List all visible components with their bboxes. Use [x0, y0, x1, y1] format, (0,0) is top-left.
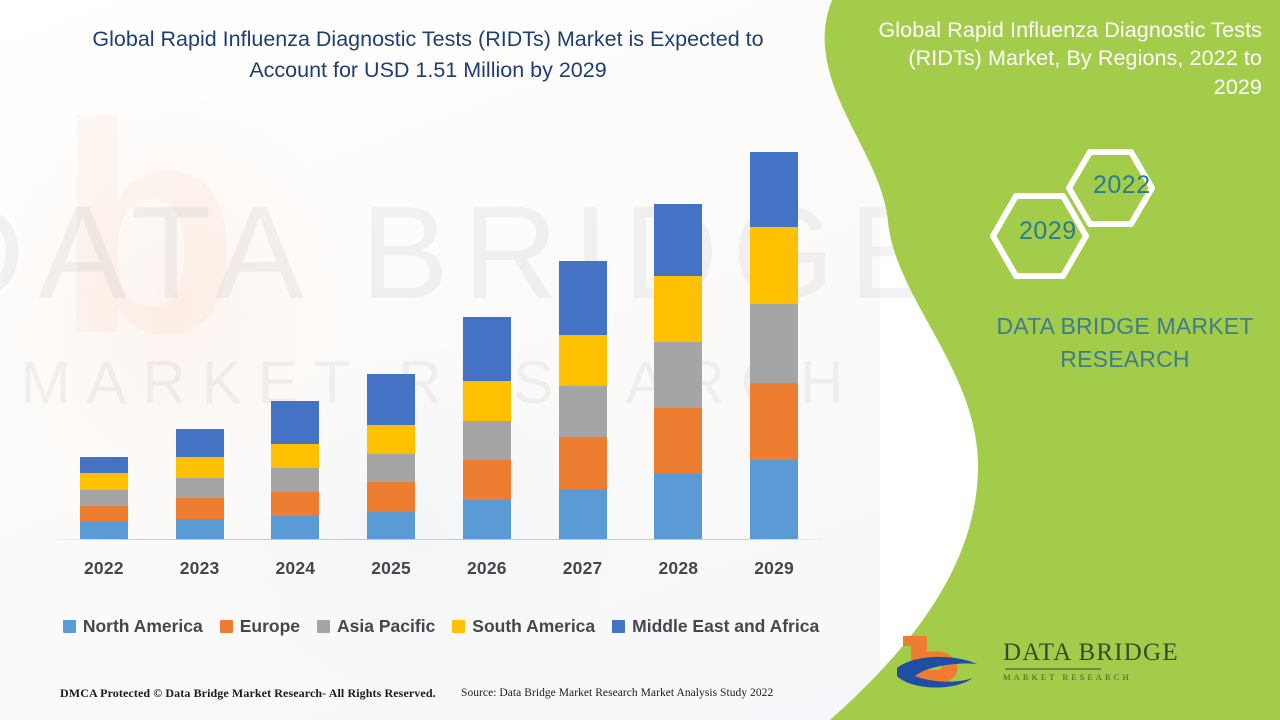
bar-segment: [80, 522, 128, 539]
bar-segment: [271, 468, 319, 492]
bar-segment: [750, 383, 798, 461]
bar-segment: [80, 473, 128, 490]
legend-swatch-icon: [452, 620, 465, 633]
x-axis-line: [56, 539, 822, 540]
legend-label: Europe: [240, 616, 300, 637]
bar-segment: [271, 401, 319, 444]
x-axis-label-2023: 2023: [152, 558, 247, 579]
bar-column-2024: [248, 150, 343, 539]
bar-segment: [463, 381, 511, 421]
stacked-bar: [80, 457, 128, 539]
plot-area: [56, 150, 822, 550]
bar-column-2026: [439, 150, 534, 539]
bar-segment: [80, 506, 128, 523]
bar-segment: [463, 460, 511, 500]
x-axis-label-2022: 2022: [56, 558, 151, 579]
hexagon-label-2029: 2029: [1019, 217, 1077, 246]
legend-swatch-icon: [317, 620, 330, 633]
x-axis-labels: 20222023202420252026202720282029: [56, 558, 822, 579]
logo-main-text: DATA BRIDGE: [1003, 640, 1179, 665]
bar-segment: [559, 437, 607, 488]
bar-segment: [176, 429, 224, 457]
footer-copyright: DMCA Protected © Data Bridge Market Rese…: [60, 686, 436, 701]
legend-label: South America: [472, 616, 595, 637]
bar-segment: [176, 478, 224, 498]
bar-segment: [271, 492, 319, 516]
legend-item[interactable]: North America: [63, 616, 203, 637]
bar-segment: [176, 498, 224, 519]
infographic-canvas: DATA BRIDGE MARKET RESEARCH b Global Rap…: [0, 0, 1280, 720]
legend-label: North America: [83, 616, 203, 637]
bar-segment: [654, 342, 702, 408]
legend-item[interactable]: South America: [452, 616, 595, 637]
bar-segment: [463, 317, 511, 381]
bar-segment: [463, 421, 511, 461]
x-axis-label-2024: 2024: [248, 558, 343, 579]
panel-brand-line-1: DATA BRIDGE MARKET: [996, 313, 1253, 339]
bar-segment: [271, 516, 319, 539]
stacked-bar: [367, 374, 415, 539]
bar-segment: [654, 474, 702, 539]
bar-column-2027: [535, 150, 630, 539]
bar-group: [56, 150, 822, 539]
bar-segment: [80, 457, 128, 473]
bar-segment: [559, 386, 607, 437]
legend-swatch-icon: [63, 620, 76, 633]
bar-segment: [654, 408, 702, 474]
chart-legend: North AmericaEuropeAsia PacificSouth Ame…: [46, 616, 836, 637]
legend-label: Middle East and Africa: [632, 616, 819, 637]
bar-segment: [654, 204, 702, 276]
stacked-bar: [463, 317, 511, 539]
bar-segment: [271, 444, 319, 468]
bar-segment: [367, 374, 415, 425]
stacked-bar: [750, 152, 798, 540]
x-axis-label-2027: 2027: [535, 558, 630, 579]
bar-column-2028: [631, 150, 726, 539]
bar-segment: [367, 425, 415, 454]
bar-segment: [176, 519, 224, 539]
bar-segment: [750, 152, 798, 227]
bar-segment: [367, 512, 415, 539]
legend-item[interactable]: Middle East and Africa: [612, 616, 819, 637]
legend-item[interactable]: Europe: [220, 616, 300, 637]
bar-segment: [176, 457, 224, 478]
bar-column-2029: [727, 150, 822, 539]
bar-column-2022: [56, 150, 151, 539]
legend-swatch-icon: [612, 620, 625, 633]
bar-segment: [80, 490, 128, 506]
stacked-bar: [271, 401, 319, 539]
bar-segment: [463, 500, 511, 539]
bar-column-2023: [152, 150, 247, 539]
bar-segment: [367, 482, 415, 511]
stacked-bar-chart: 20222023202420252026202720282029: [56, 150, 822, 560]
logo-divider: [1005, 668, 1101, 670]
bar-segment: [559, 335, 607, 386]
x-axis-label-2026: 2026: [439, 558, 534, 579]
legend-label: Asia Pacific: [337, 616, 435, 637]
hexagon-label-2022: 2022: [1093, 171, 1151, 200]
logo-text: DATA BRIDGE MARKET RESEARCH: [1003, 640, 1179, 681]
bar-segment: [367, 454, 415, 482]
stacked-bar: [654, 204, 702, 539]
x-axis-label-2028: 2028: [631, 558, 726, 579]
bar-segment: [750, 304, 798, 383]
panel-brand-name: DATA BRIDGE MARKET RESEARCH: [975, 310, 1275, 375]
x-axis-label-2025: 2025: [344, 558, 439, 579]
logo-sub-text: MARKET RESEARCH: [1003, 673, 1179, 682]
bar-segment: [654, 276, 702, 342]
bar-segment: [750, 227, 798, 305]
panel-brand-line-2: RESEARCH: [1060, 346, 1189, 372]
x-axis-label-2029: 2029: [727, 558, 822, 579]
stacked-bar: [176, 429, 224, 539]
bar-segment: [559, 489, 607, 539]
bar-segment: [559, 261, 607, 334]
bar-column-2025: [344, 150, 439, 539]
bar-segment: [750, 460, 798, 539]
footer-source: Source: Data Bridge Market Research Mark…: [461, 687, 773, 699]
stacked-bar: [559, 261, 607, 539]
legend-item[interactable]: Asia Pacific: [317, 616, 435, 637]
legend-swatch-icon: [220, 620, 233, 633]
